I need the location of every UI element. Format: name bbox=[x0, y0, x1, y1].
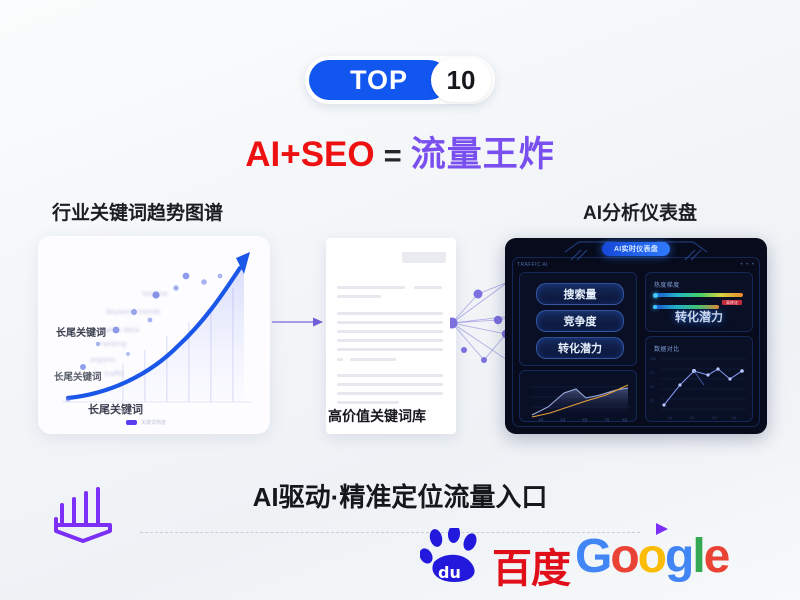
svg-text:Q4: Q4 bbox=[732, 416, 737, 420]
comparison-line-chart: 10075 5025 Q1Q2 Q3Q4 bbox=[646, 337, 754, 423]
traffic-area-chart: 1月3月 5月7月 9月 bbox=[520, 371, 638, 423]
doc-header-block bbox=[402, 252, 446, 263]
heat-tag: 高转化 bbox=[722, 300, 742, 305]
baidu-paw-icon: du bbox=[420, 528, 490, 586]
play-triangle-icon bbox=[652, 520, 672, 540]
metric-pill-search-volume[interactable]: 搜索量 bbox=[536, 283, 624, 305]
svg-text:9月: 9月 bbox=[622, 418, 628, 422]
heat-panel-title: 热度梯度 bbox=[654, 280, 680, 289]
top-badge-label: TOP bbox=[350, 65, 408, 96]
svg-text:Q3: Q3 bbox=[712, 416, 717, 420]
section-label-right: AI分析仪表盘 bbox=[583, 198, 697, 225]
keyword-label-1: 长尾关键词 bbox=[56, 324, 106, 339]
heat-overlay-label: 转化潜力 bbox=[646, 308, 752, 325]
growth-chart-icon bbox=[48, 485, 118, 547]
svg-text:Q1: Q1 bbox=[668, 416, 673, 420]
headline-left: AI+SEO bbox=[245, 135, 374, 174]
svg-text:25: 25 bbox=[650, 399, 654, 403]
svg-text:Keyword trends: Keyword trends bbox=[106, 308, 161, 316]
svg-text:Volume: Volume bbox=[142, 290, 168, 298]
comparison-line-panel: 数据对比 10075 bbox=[645, 336, 753, 422]
svg-text:5月: 5月 bbox=[582, 418, 588, 422]
svg-text:Q2: Q2 bbox=[690, 416, 695, 420]
svg-text:50: 50 bbox=[650, 385, 654, 389]
google-letter-g1: G bbox=[575, 530, 610, 583]
headline-operator: = bbox=[384, 138, 402, 173]
google-letter-l: l bbox=[692, 530, 703, 583]
svg-text:ranking: ranking bbox=[100, 340, 126, 348]
baidu-wordmark: 百度 bbox=[492, 536, 570, 594]
svg-text:traffic: traffic bbox=[104, 370, 125, 378]
traffic-area-panel: 1月3月 5月7月 9月 bbox=[519, 370, 637, 422]
ai-dashboard-card: AI实时仪表盘 TRAFFIC AI • • • 搜索量 竞争度 转化潜力 bbox=[505, 238, 767, 434]
top-badge-number-circle: 10 bbox=[431, 58, 491, 102]
keyword-label-2: 长尾关键词 bbox=[54, 369, 102, 383]
doc-caption: 高价值关键词库 bbox=[328, 406, 426, 426]
baidu-mark-text: du bbox=[438, 563, 461, 582]
keyword-library-document bbox=[326, 238, 456, 434]
legend-color-chip bbox=[126, 420, 137, 425]
heat-gradient-panel: 热度梯度 高转化 转化潜力 bbox=[645, 272, 753, 332]
metric-pill-competition[interactable]: 竞争度 bbox=[536, 310, 624, 332]
svg-text:7月: 7月 bbox=[604, 418, 610, 422]
footer-title: AI驱动·精准定位流量入口 bbox=[0, 477, 800, 514]
top-badge-blue-pill: TOP bbox=[309, 60, 449, 100]
search-engine-logos: du 百度 Google bbox=[420, 524, 750, 586]
svg-text:organic: organic bbox=[90, 356, 116, 364]
chart-legend: 关键词热度 bbox=[126, 419, 166, 426]
metric-pill-conversion[interactable]: 转化潜力 bbox=[536, 337, 624, 359]
google-letter-e: e bbox=[704, 530, 729, 583]
dashboard-title-badge: AI实时仪表盘 bbox=[602, 242, 670, 256]
top-badge-number: 10 bbox=[447, 65, 476, 96]
headline-right: 流量王炸 bbox=[411, 135, 555, 174]
svg-text:75: 75 bbox=[650, 371, 654, 375]
section-label-left: 行业关键词趋势图谱 bbox=[52, 198, 223, 225]
legend-label: 关键词热度 bbox=[141, 419, 166, 426]
keyword-label-3: 长尾关键词 bbox=[88, 401, 143, 417]
slide-canvas: TOP 10 AI+SEO=流量王炸 行业关键词趋势图谱 AI分析仪表盘 bbox=[0, 0, 800, 600]
flow-arrow-1 bbox=[272, 316, 324, 328]
google-letter-o1: o bbox=[610, 530, 637, 583]
chart-axis-title: 时间 bbox=[118, 408, 128, 415]
keyword-trend-card: Keyword trends Volume search data rankin… bbox=[38, 236, 270, 434]
page-title: AI+SEO=流量王炸 bbox=[0, 126, 800, 177]
svg-text:1月: 1月 bbox=[538, 418, 544, 422]
svg-text:100: 100 bbox=[650, 357, 656, 361]
top-rank-badge: TOP 10 bbox=[305, 56, 495, 104]
metric-pills-panel: 搜索量 竞争度 转化潜力 bbox=[519, 272, 637, 366]
svg-text:3月: 3月 bbox=[560, 418, 566, 422]
